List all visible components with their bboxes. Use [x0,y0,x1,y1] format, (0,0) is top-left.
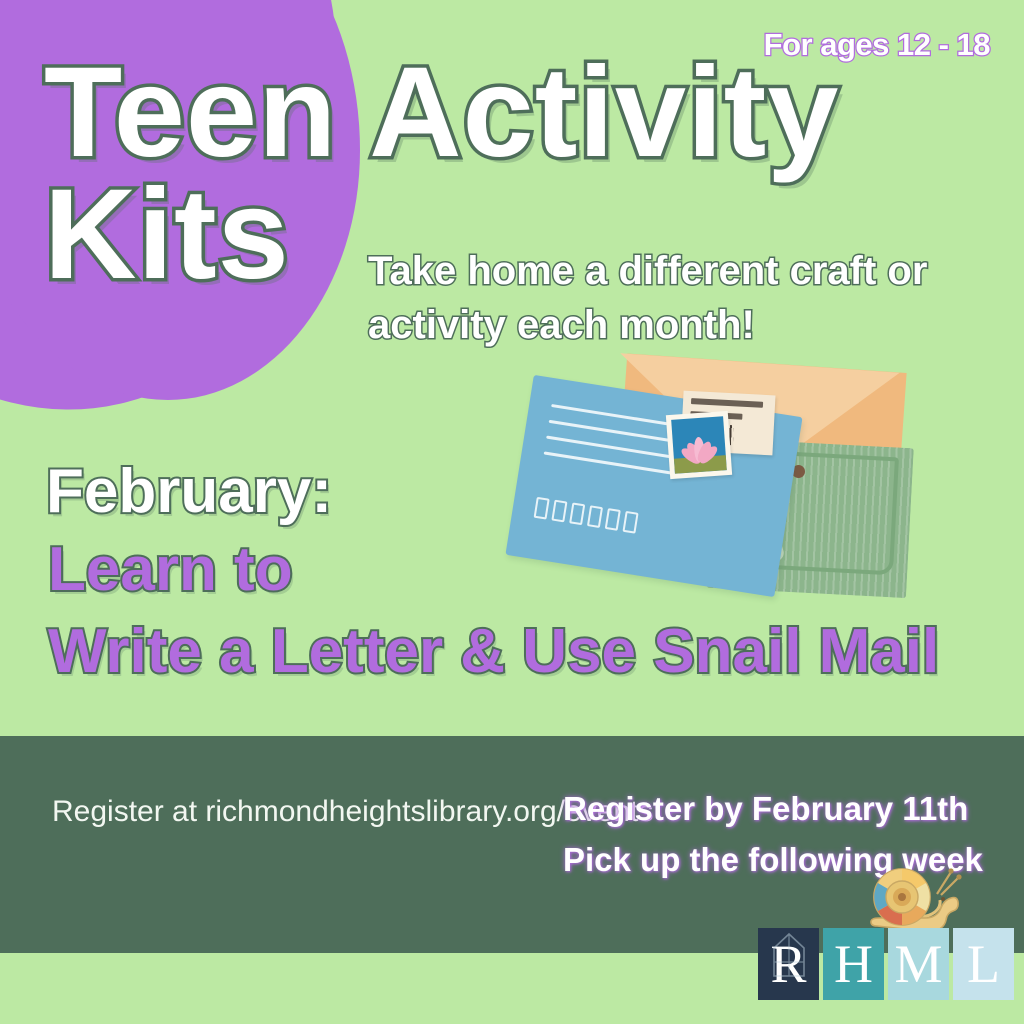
logo-letter-l: L [967,937,1000,991]
library-building-icon [772,932,806,978]
lotus-flower-icon [679,435,719,464]
logo-square-h: H [823,928,884,1000]
logo-square-r: R [758,928,819,1000]
month-label: February: [46,456,332,527]
logo-square-m: M [888,928,949,1000]
library-logo: R H M L [758,928,1014,1000]
activity-title-line-2: Write a Letter & Use Snail Mail [48,616,939,687]
lotus-stamp-icon [666,411,732,479]
activity-title-line-1: Learn to [48,534,293,605]
logo-letter-m: M [894,937,942,991]
tagline-text: Take home a different craft or activity … [368,244,988,352]
postal-code-boxes-icon [534,497,639,534]
snail-icon [855,866,967,936]
logo-square-l: L [953,928,1014,1000]
poster-canvas: For ages 12 - 18 Teen Activity Kits Take… [0,0,1024,1024]
logo-letter-h: H [834,937,873,991]
register-by-text: Register by February 11th [563,783,983,834]
mail-illustration [500,355,930,625]
